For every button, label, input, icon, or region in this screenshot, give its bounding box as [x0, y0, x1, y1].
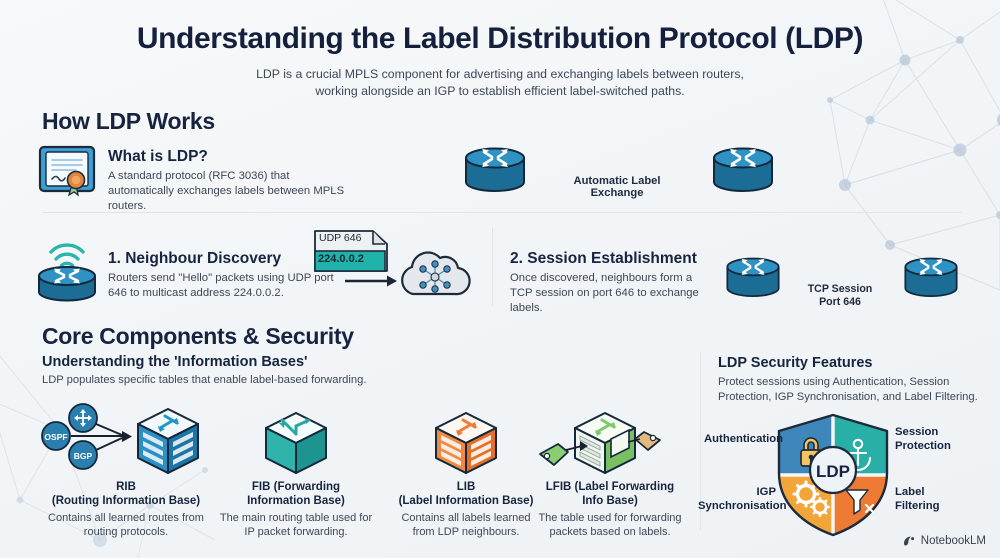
card-title-line-2: Info Base): [582, 495, 638, 507]
card-desc-line-2: routing protocols.: [84, 526, 168, 538]
security-subheading-line-2: Protection, IGP Synchronisation, and Lab…: [718, 391, 978, 403]
card-title: FIB (Forwarding Information Base): [208, 480, 384, 508]
router-icon: [708, 140, 778, 197]
security-label-session-protection: Session Protection: [895, 425, 987, 453]
poster-header: Understanding the Label Distribution Pro…: [0, 22, 1000, 100]
tcp-session-label: TCP Session Port 646: [790, 283, 890, 309]
session-establishment-body: Once discovered, neighbours form a TCP s…: [510, 271, 710, 316]
card-title-line-2: Information Base): [247, 495, 345, 507]
session-protection-line-2: Protection: [895, 440, 951, 452]
what-is-ldp-block: What is LDP? A standard protocol (RFC 30…: [108, 148, 358, 214]
watermark-text: NotebookLM: [921, 535, 986, 547]
infographic-poster: Understanding the Label Distribution Pro…: [0, 0, 1000, 558]
tcp-session-line-2: Port 646: [819, 296, 861, 308]
page-title: Understanding the Label Distribution Pro…: [0, 22, 1000, 56]
security-label-label-filtering: Label Filtering: [895, 485, 975, 513]
packet-flow-arrow: [345, 274, 397, 288]
network-cloud-icon: [393, 244, 477, 307]
udp-packet-address: 224.0.0.2: [318, 253, 364, 265]
security-heading: LDP Security Features: [718, 355, 986, 371]
card-title-line-1: FIB (Forwarding: [252, 481, 340, 493]
card-desc-line-2: IP packet forwarding.: [244, 526, 347, 538]
shield-center-label: LDP: [816, 462, 850, 481]
information-base-card-fib: FIB (Forwarding Information Base) The ma…: [208, 400, 384, 539]
tcp-session-line-1: TCP Session: [808, 283, 873, 295]
label-filtering-line-2: Filtering: [895, 500, 940, 512]
subtitle-line-1: LDP is a crucial MPLS component for adve…: [256, 67, 744, 81]
subtitle-line-2: working alongside an IGP to establish ef…: [315, 84, 684, 98]
udp-packet-card: UDP 646 224.0.0.2: [313, 229, 389, 278]
protocol-badge-bgp: BGP: [74, 451, 93, 461]
card-description: The main routing table used for IP packe…: [208, 511, 384, 539]
divider-column-middle: [492, 228, 493, 306]
igp-sync-line-1: IGP: [757, 486, 776, 498]
security-subheading-line-1: Protect sessions using Authentication, S…: [718, 376, 949, 388]
security-subheading: Protect sessions using Authentication, S…: [718, 375, 986, 405]
session-establishment-title: 2. Session Establishment: [510, 250, 710, 268]
card-desc-line-1: Contains all learned routes from: [48, 512, 204, 524]
information-bases-subheading: LDP populates specific tables that enabl…: [42, 374, 366, 386]
security-header: LDP Security Features Protect sessions u…: [718, 355, 986, 405]
information-bases-header: Understanding the 'Information Bases' LD…: [42, 354, 366, 386]
card-desc-line-2: packets based on labels.: [549, 526, 670, 538]
security-label-igp-synchronisation: IGP Synchronisation: [698, 485, 776, 513]
card-title: RIB (Routing Information Base): [38, 480, 214, 508]
card-title-line-2: (Routing Information Base): [52, 495, 200, 507]
information-bases-heading: Understanding the 'Information Bases': [42, 354, 366, 370]
router-icon: [900, 251, 962, 302]
card-desc-line-1: The main routing table used for: [220, 512, 372, 524]
router-wifi-icon: [30, 230, 106, 307]
rib-database-icon: OSPF BGP: [38, 400, 214, 480]
what-is-ldp-title: What is LDP?: [108, 148, 358, 166]
page-subtitle: LDP is a crucial MPLS component for adve…: [0, 66, 1000, 100]
section-heading-core-components: Core Components & Security: [42, 323, 354, 350]
section-heading-how-ldp-works: How LDP Works: [42, 108, 215, 135]
security-label-authentication: Authentication: [704, 432, 776, 446]
certificate-icon: [36, 144, 98, 203]
lfib-tag-database-icon: [510, 400, 710, 480]
security-shield-diagram: LDP: [770, 412, 896, 543]
automatic-label-exchange-label: Automatic Label Exchange: [552, 175, 682, 199]
notebooklm-watermark: NotebookLM: [902, 534, 986, 548]
router-icon: [460, 140, 530, 197]
card-title-line-1: LFIB (Label Forwarding: [546, 481, 674, 493]
neighbour-discovery-block: 1. Neighbour Discovery Routers send "Hel…: [108, 250, 338, 301]
udp-packet-header: UDP 646: [319, 232, 361, 244]
session-protection-line-1: Session: [895, 426, 938, 438]
what-is-ldp-body: A standard protocol (RFC 3036) that auto…: [108, 169, 358, 214]
card-desc-line-2: from LDP neighbours.: [413, 526, 520, 538]
label-filtering-line-1: Label: [895, 486, 925, 498]
neighbour-discovery-body: Routers send "Hello" packets using UDP p…: [108, 271, 338, 301]
card-title-line-1: RIB: [116, 481, 136, 493]
card-title: LFIB (Label Forwarding Info Base): [510, 480, 710, 508]
information-base-card-lfib: LFIB (Label Forwarding Info Base) The ta…: [510, 400, 710, 539]
igp-sync-line-2: Synchronisation: [698, 500, 787, 512]
fib-cube-icon: [208, 400, 384, 480]
protocol-badge-ospf: OSPF: [44, 432, 67, 442]
information-base-card-rib: OSPF BGP: [38, 400, 214, 539]
divider-row-1: [42, 212, 962, 213]
card-description: The table used for forwarding packets ba…: [510, 511, 710, 539]
card-desc-line-1: The table used for forwarding: [538, 512, 681, 524]
neighbour-discovery-title: 1. Neighbour Discovery: [108, 250, 338, 268]
card-description: Contains all learned routes from routing…: [38, 511, 214, 539]
session-establishment-block: 2. Session Establishment Once discovered…: [510, 250, 710, 316]
router-icon: [722, 251, 784, 302]
notebooklm-logo-icon: [902, 534, 916, 548]
card-title-line-1: LIB: [457, 481, 476, 493]
